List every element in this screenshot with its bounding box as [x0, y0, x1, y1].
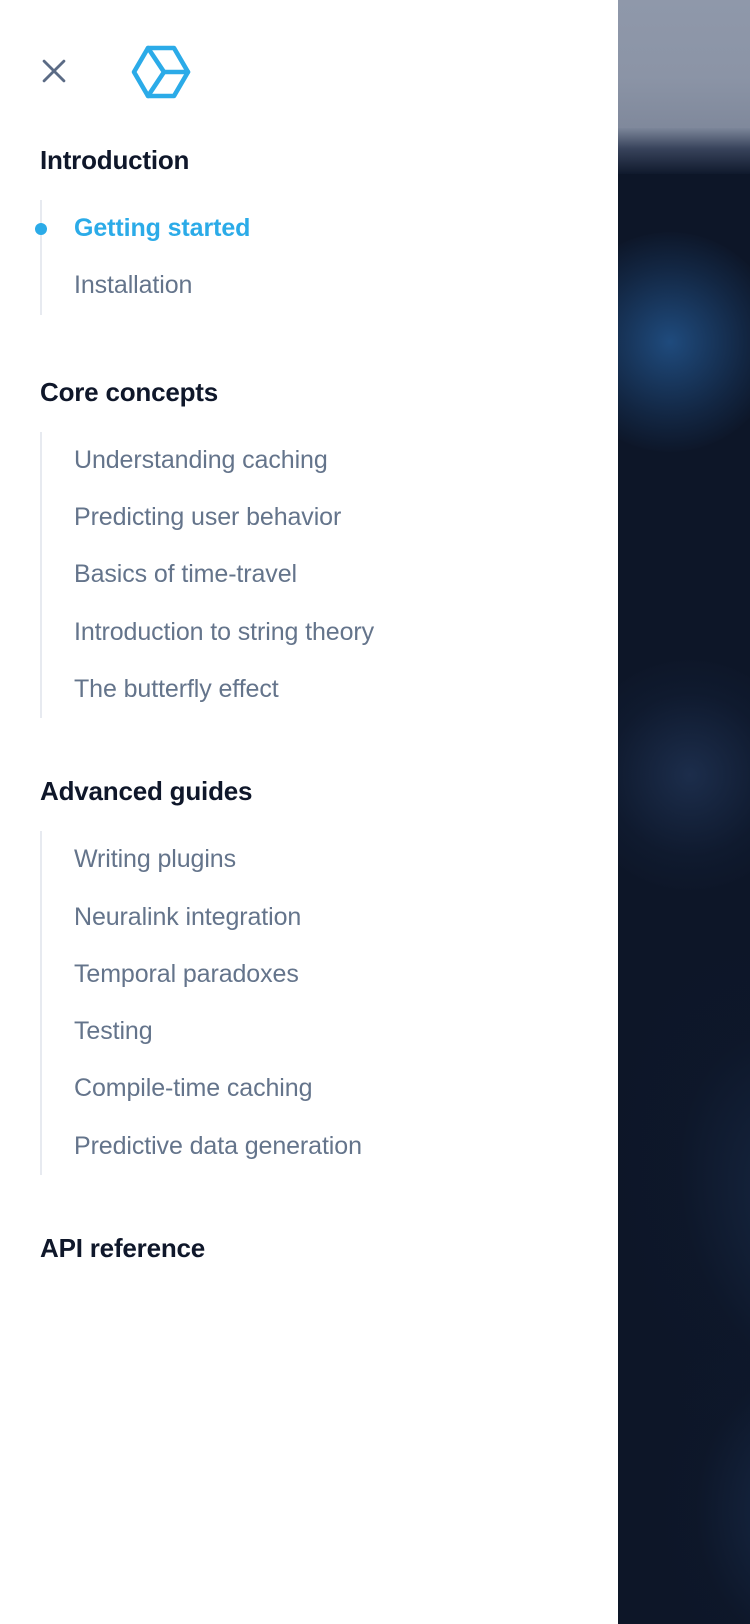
- nav-item-testing[interactable]: Testing: [42, 1003, 618, 1060]
- nav-item-getting-started[interactable]: Getting started: [42, 200, 618, 257]
- nav-group-introduction: Introduction Getting started Installatio…: [0, 145, 618, 315]
- nav-item-basics-of-time-travel[interactable]: Basics of time-travel: [42, 546, 618, 603]
- nav-item-predicting-user-behavior[interactable]: Predicting user behavior: [42, 489, 618, 546]
- nav-group-api-reference: API reference: [0, 1233, 618, 1264]
- nav-group-title: API reference: [0, 1233, 618, 1264]
- nav-group-items: Writing plugins Neuralink integration Te…: [40, 831, 618, 1175]
- nav-group-title: Introduction: [0, 145, 618, 176]
- close-navigation-button[interactable]: [36, 54, 72, 90]
- nav-item-neuralink-integration[interactable]: Neuralink integration: [42, 889, 618, 946]
- nav-group-title: Advanced guides: [0, 776, 618, 807]
- nav-item-introduction-to-string-theory[interactable]: Introduction to string theory: [42, 604, 618, 661]
- nav-item-compile-time-caching[interactable]: Compile-time caching: [42, 1060, 618, 1117]
- navigation-slide-over-panel: Introduction Getting started Installatio…: [0, 0, 618, 1624]
- nav-group-core-concepts: Core concepts Understanding caching Pred…: [0, 377, 618, 718]
- nav-item-temporal-paradoxes[interactable]: Temporal paradoxes: [42, 946, 618, 1003]
- backdrop-corner-glow: [640, 1300, 750, 1624]
- documentation-navigation[interactable]: Introduction Getting started Installatio…: [0, 145, 618, 1624]
- nav-item-understanding-caching[interactable]: Understanding caching: [42, 432, 618, 489]
- nav-group-items: Understanding caching Predicting user be…: [40, 432, 618, 718]
- nav-item-the-butterfly-effect[interactable]: The butterfly effect: [42, 661, 618, 718]
- panel-topbar: [0, 0, 618, 145]
- nav-group-items: Getting started Installation: [40, 200, 618, 315]
- site-logo[interactable]: [128, 45, 194, 103]
- nav-group-title: Core concepts: [0, 377, 618, 408]
- close-icon: [37, 54, 71, 91]
- nav-item-predictive-data-generation[interactable]: Predictive data generation: [42, 1118, 618, 1175]
- nav-item-installation[interactable]: Installation: [42, 257, 618, 314]
- nav-item-writing-plugins[interactable]: Writing plugins: [42, 831, 618, 888]
- mobile-docs-screen: Introduction Getting started Installatio…: [0, 0, 750, 1624]
- nav-group-advanced-guides: Advanced guides Writing plugins Neuralin…: [0, 776, 618, 1175]
- cube-logo-icon: [130, 44, 192, 105]
